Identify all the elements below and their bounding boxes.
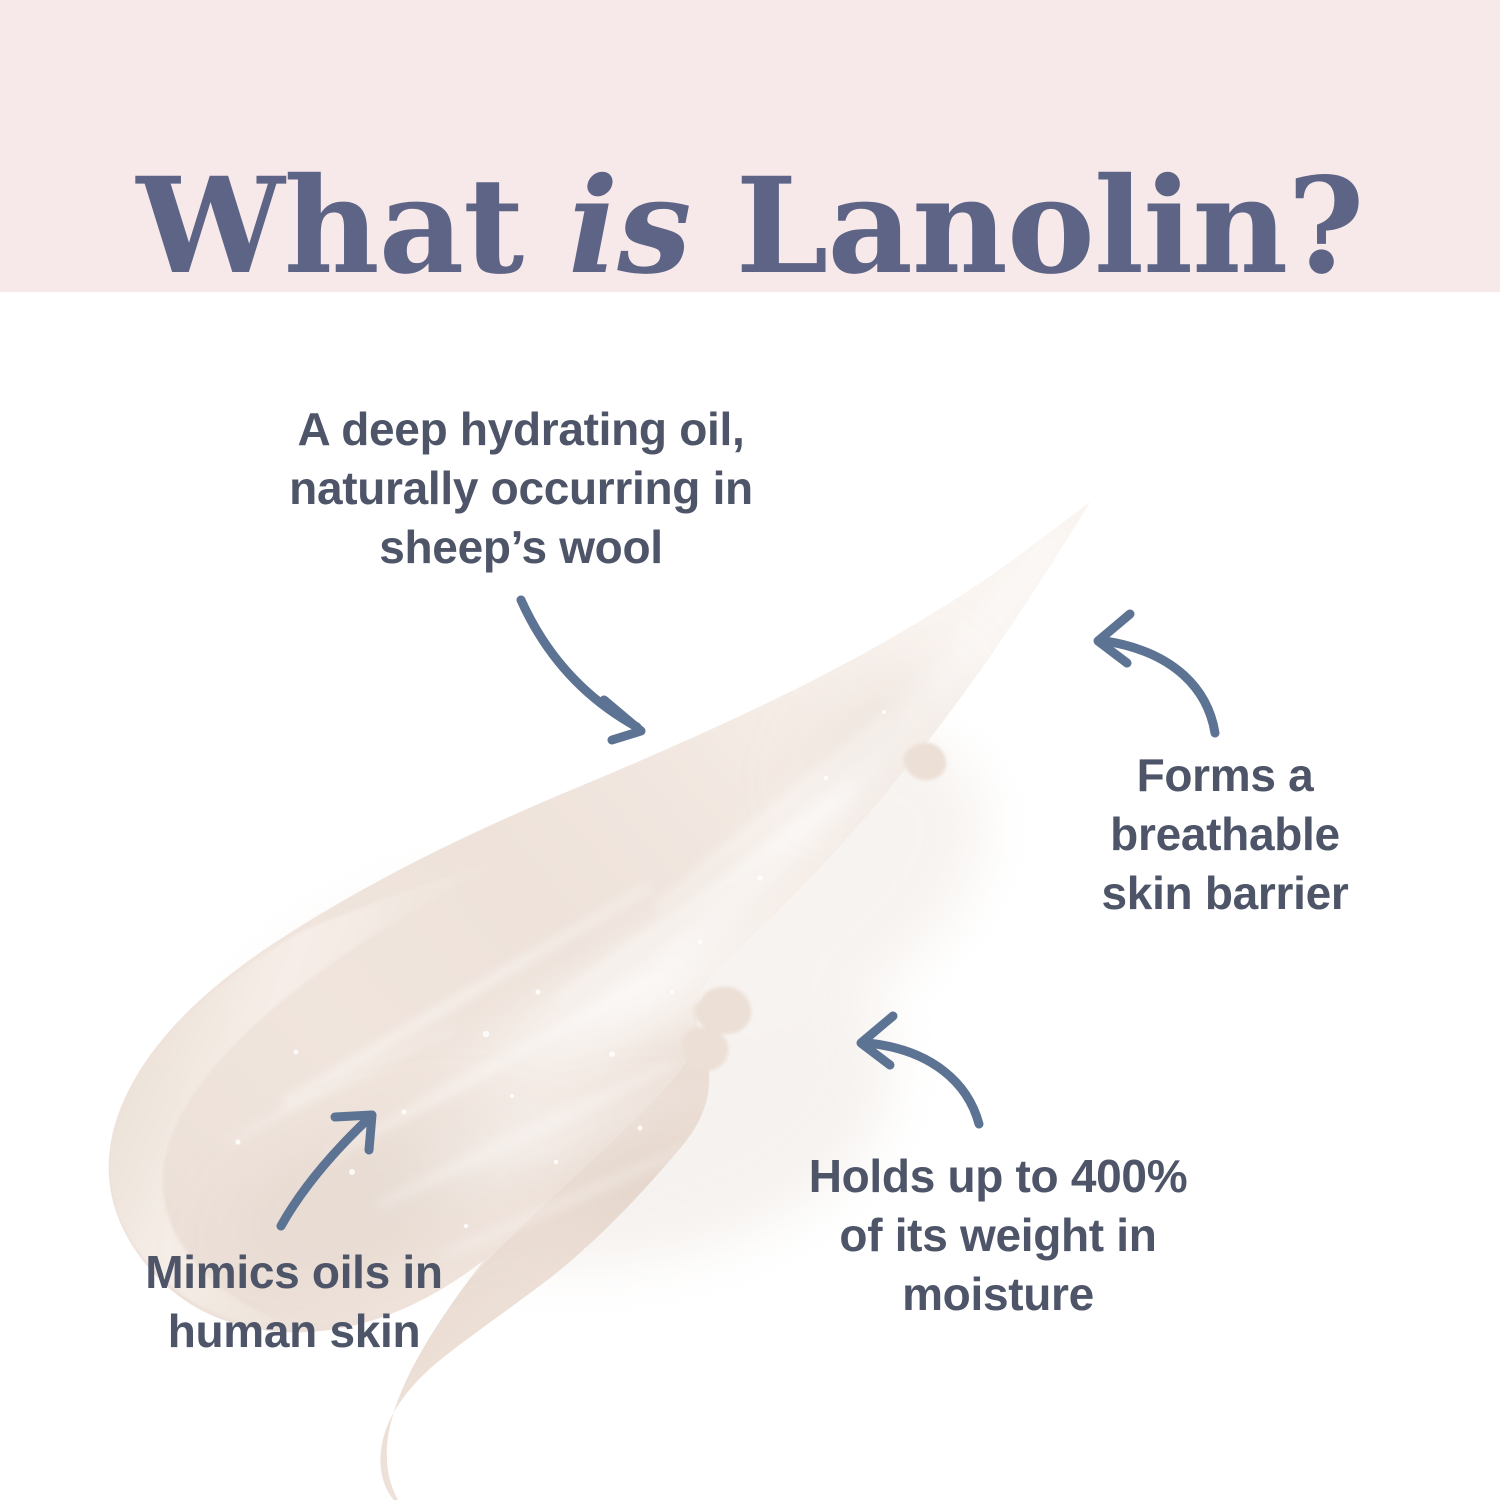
annotation-deep-hydrating-oil: A deep hydrating oil, naturally occurrin… <box>216 400 826 577</box>
annotation-line: of its weight in <box>718 1206 1278 1265</box>
page-title: What is Lanolin? <box>0 88 1500 380</box>
annotation-line: human skin <box>74 1302 514 1361</box>
page-title-emphasis: is <box>568 161 690 293</box>
annotation-holds-moisture: Holds up to 400% of its weight in moistu… <box>718 1147 1278 1324</box>
page-title-prefix: What <box>136 161 568 293</box>
annotation-line: sheep’s wool <box>216 518 826 577</box>
annotation-mimics-skin-oils: Mimics oils in human skin <box>74 1243 514 1361</box>
annotation-line: naturally occurring in <box>216 459 826 518</box>
page-title-suffix: Lanolin? <box>691 161 1364 293</box>
annotation-line: Holds up to 400% <box>718 1147 1278 1206</box>
annotation-line: A deep hydrating oil, <box>216 400 826 459</box>
annotation-line: moisture <box>718 1265 1278 1324</box>
annotation-line: breathable <box>1035 805 1415 864</box>
annotation-line: skin barrier <box>1035 864 1415 923</box>
annotation-line: Mimics oils in <box>74 1243 514 1302</box>
lanolin-infographic: What is Lanolin? <box>0 0 1500 1500</box>
annotation-line: Forms a <box>1035 746 1415 805</box>
annotation-breathable-barrier: Forms a breathable skin barrier <box>1035 746 1415 923</box>
